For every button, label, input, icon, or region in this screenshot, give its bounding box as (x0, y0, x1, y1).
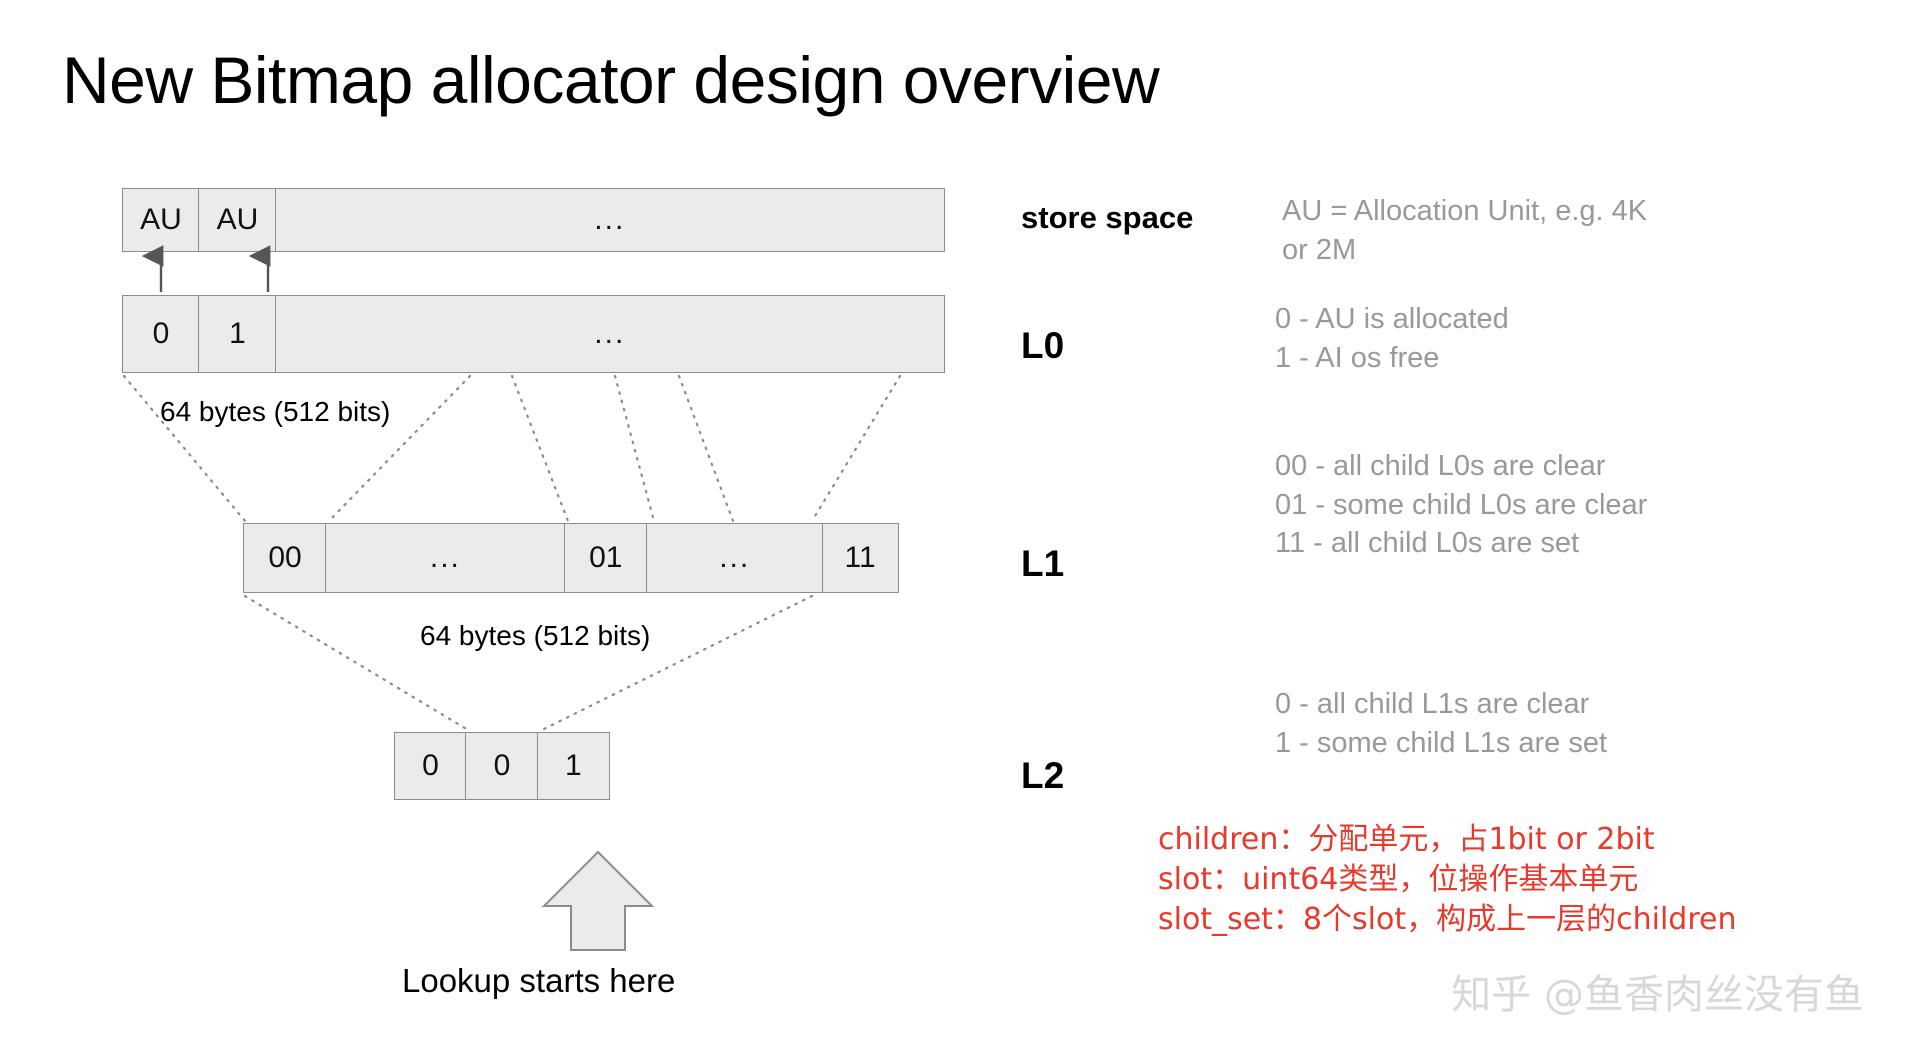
store-space-cell: AU (198, 188, 276, 252)
store-space-cell: AU (122, 188, 200, 252)
legend-l0-bits: 0 - AU is allocated 1 - AI os free (1275, 300, 1509, 377)
l1-cell: 11 (822, 523, 899, 593)
au-pointer-arrows (161, 256, 268, 292)
legend-l2-bits: 0 - all child L1s are clear 1 - some chi… (1275, 685, 1607, 762)
lookup-caption: Lookup starts here (402, 962, 675, 1000)
l1-size-note: 64 bytes (512 bits) (420, 620, 650, 652)
slide-canvas: New Bitmap allocator design overview AU … (0, 0, 1906, 1058)
l1-level-label: L1 (1021, 543, 1064, 585)
l2-cell: 0 (394, 732, 467, 800)
l0-size-note: 64 bytes (512 bits) (160, 396, 390, 428)
legend-allocation-unit: AU = Allocation Unit, e.g. 4K or 2M (1282, 192, 1647, 269)
red-terminology-note: children：分配单元，占1bit or 2bit slot：uint64类… (1158, 820, 1736, 940)
l1-row: 00 ... 01 ... 11 (243, 523, 899, 593)
page-title: New Bitmap allocator design overview (62, 42, 1159, 118)
store-space-row: AU AU ... (122, 188, 945, 252)
l0-level-label: L0 (1021, 325, 1064, 367)
l1-to-l2-connectors (245, 596, 812, 730)
l2-cell: 0 (465, 732, 538, 800)
l0-row: 0 1 ... (122, 295, 945, 373)
watermark: 知乎 @鱼香肉丝没有鱼 (1451, 962, 1864, 1020)
up-block-arrow-icon (544, 852, 652, 950)
store-space-cell: ... (275, 188, 945, 252)
l1-cell: ... (325, 523, 565, 593)
l1-cell: 01 (564, 523, 648, 593)
store-space-label: store space (1021, 200, 1193, 236)
legend-l1-bits: 00 - all child L0s are clear 01 - some c… (1275, 447, 1647, 563)
l2-row: 0 0 1 (394, 732, 610, 800)
l0-cell: 1 (198, 295, 276, 373)
l0-cell: ... (275, 295, 945, 373)
l2-level-label: L2 (1021, 755, 1064, 797)
l0-cell: 0 (122, 295, 200, 373)
l2-cell: 1 (537, 732, 610, 800)
l1-cell: 00 (243, 523, 327, 593)
l1-cell: ... (646, 523, 823, 593)
